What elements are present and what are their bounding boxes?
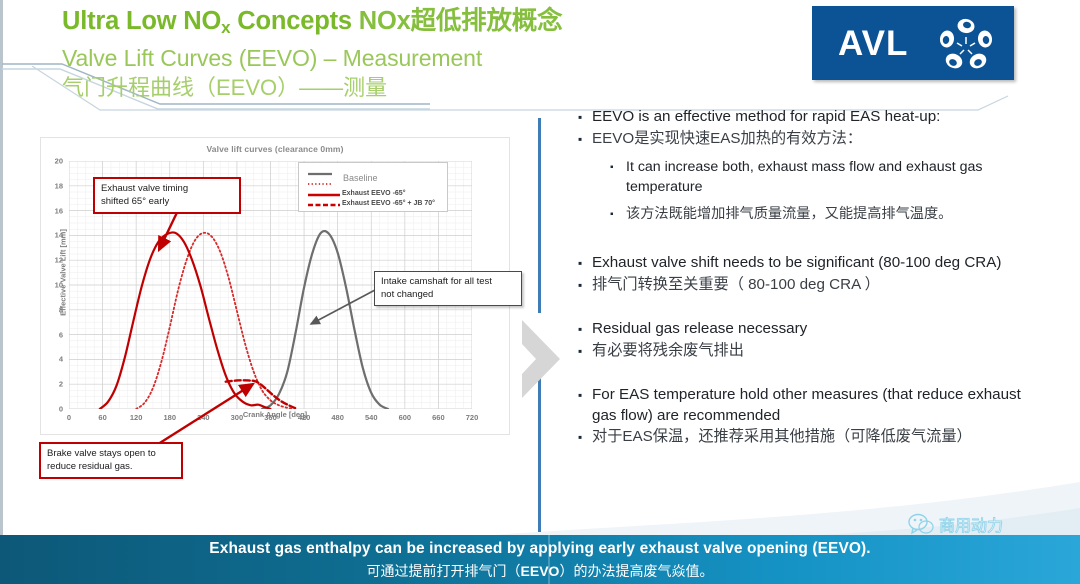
footer-text-cn: 可通过提前打开排气门（EEVO）的办法提高废气焱值。 [0, 561, 1080, 581]
chart-y-tick-label: 14 [41, 231, 63, 240]
list-item: ▪ Exhaust valve shift needs to be signif… [578, 252, 1048, 274]
slide-root: Ultra Low NOx Concepts NOx超低排放概念 Valve L… [0, 0, 1080, 584]
watermark-text: 商用动力 [939, 512, 1003, 536]
subtitle-cn: 气门升程曲线（EEVO）——测量 [62, 73, 762, 102]
list-item: ▪ EEVO是实现快速EAS加热的有效方法： [578, 128, 1048, 150]
list-item: ▪ 对于EAS保温，还推荐采用其他措施（可降低废气流量） [578, 426, 1048, 448]
chart-y-tick-label: 20 [41, 157, 63, 166]
legend-swatch-eevo65-jb70 [307, 202, 341, 208]
bullet-marker: ▪ [578, 384, 592, 406]
footer-text-en: Exhaust gas enthalpy can be increased by… [0, 540, 1080, 558]
legend-swatch-baseline-dotted [307, 181, 333, 187]
bullet-text: 该方法既能增加排气质量流量，又能提高排气温度。 [626, 204, 1048, 224]
valve-lift-chart: Valve lift curves (clearance 0mm) Effect… [40, 137, 510, 435]
subtitle-en: Valve Lift Curves (EEVO) – Measurement [62, 43, 762, 73]
legend-swatch-baseline-solid [307, 171, 333, 177]
left-edge-rail [0, 0, 3, 535]
column-divider-top [538, 118, 541, 313]
bullet-marker: ▪ [578, 106, 592, 128]
list-item: ▪ For EAS temperature hold other measure… [578, 384, 1048, 426]
bullet-marker: ▪ [578, 128, 592, 150]
bullet-text: Exhaust valve shift needs to be signific… [592, 252, 1048, 273]
chart-y-tick-label: 6 [41, 330, 63, 339]
callout-arrow-brake-valve [141, 378, 266, 450]
bullet-text: Residual gas release necessary [592, 318, 1048, 339]
spacer [578, 226, 1048, 252]
chart-x-tick-label: 720 [452, 413, 492, 422]
list-item: ▪ EEVO is an effective method for rapid … [578, 106, 1048, 128]
chart-y-tick-label: 12 [41, 256, 63, 265]
chart-legend: Baseline Exhaust EEVO -65° Exhaust EEVO … [298, 162, 448, 212]
bullet-text: For EAS temperature hold other measures … [592, 384, 1048, 426]
callout-line-1: Exhaust valve timing [101, 183, 233, 196]
bullet-marker: ▪ [578, 252, 592, 274]
callout-line-2: reduce residual gas. [47, 461, 175, 474]
list-item: ▪ 有必要将残余废气排出 [578, 340, 1048, 362]
chart-y-tick-label: 16 [41, 206, 63, 215]
bullet-list: ▪ EEVO is an effective method for rapid … [578, 106, 1048, 448]
bullet-text: It can increase both, exhaust mass flow … [626, 157, 1048, 197]
brake-valve-callout: Brake valve stays open to reduce residua… [39, 442, 183, 479]
legend-label-baseline: Baseline [343, 173, 378, 183]
chart-y-axis-label: Effective Valve Lift [mm] [59, 203, 68, 343]
list-item: ▪ 该方法既能增加排气质量流量，又能提高排气温度。 [610, 204, 1048, 226]
spacer [578, 296, 1048, 318]
footer-banner: Exhaust gas enthalpy can be increased by… [0, 535, 1080, 584]
chart-title: Valve lift curves (clearance 0mm) [41, 144, 509, 154]
bullet-marker: ▪ [578, 426, 592, 448]
callout-line-1: Brake valve stays open to [47, 448, 175, 461]
title-chinese: NOx超低排放概念 [359, 7, 563, 35]
title-tail: Concepts [230, 7, 358, 35]
bullet-marker: ▪ [610, 204, 626, 226]
avl-pinwheel-icon [938, 17, 994, 71]
title-subscript: x [221, 18, 230, 37]
chart-y-tick-label: 4 [41, 355, 63, 364]
list-item: ▪ 排气门转换至关重要（ 80-100 deg CRA ） [578, 274, 1048, 296]
callout-line-2: shifted 65° early [101, 196, 233, 209]
list-item: ▪ It can increase both, exhaust mass flo… [610, 157, 1048, 197]
legend-label-eevo65: Exhaust EEVO -65° [342, 190, 406, 197]
callout-arrow-intake-camshaft [305, 286, 380, 331]
bullet-text: 对于EAS保温，还推荐采用其他措施（可降低废气流量） [592, 426, 1048, 447]
bullet-marker: ▪ [610, 157, 626, 179]
bullet-text: 排气门转换至关重要（ 80-100 deg CRA ） [592, 274, 1048, 295]
bullet-marker: ▪ [578, 340, 592, 362]
chart-y-tick-label: 8 [41, 305, 63, 314]
intake-camshaft-callout: Intake camshaft for all test not changed [374, 271, 522, 306]
spacer [578, 150, 1048, 157]
exhaust-timing-callout: Exhaust valve timing shifted 65° early [93, 177, 241, 214]
avl-logo: AVL [812, 6, 1014, 80]
chevron-right-icon [516, 318, 564, 400]
avl-wordmark: AVL [838, 24, 908, 64]
footer-cn-post: ）的办法提高废气焱值。 [559, 563, 713, 579]
legend-swatch-eevo65 [307, 192, 341, 198]
legend-label-eevo65-jb70: Exhaust EEVO -65° + JB 70° [342, 200, 435, 207]
watermark: 商用动力 [908, 512, 1003, 536]
chart-y-tick-label: 2 [41, 380, 63, 389]
footer-cn-bold: EEVO [521, 563, 560, 579]
wechat-icon [908, 513, 934, 535]
callout-line-2: not changed [381, 289, 515, 302]
chart-y-tick-label: 18 [41, 181, 63, 190]
callout-line-1: Intake camshaft for all test [381, 276, 515, 289]
bullet-marker: ▪ [578, 318, 592, 340]
bullet-text: EEVO是实现快速EAS加热的有效方法： [592, 128, 1048, 149]
bullet-text: 有必要将残余废气排出 [592, 340, 1048, 361]
title-block: Ultra Low NOx Concepts NOx超低排放概念 Valve L… [62, 6, 762, 102]
title-main: Ultra Low NO [62, 7, 221, 35]
spacer [578, 362, 1048, 384]
footer-cn-pre: 可通过提前打开排气门（ [367, 563, 521, 579]
bullet-text: EEVO is an effective method for rapid EA… [592, 106, 1048, 127]
spacer [578, 197, 1048, 204]
chart-y-tick-label: 10 [41, 281, 63, 290]
list-item: ▪ Residual gas release necessary [578, 318, 1048, 340]
bullet-marker: ▪ [578, 274, 592, 296]
page-title: Ultra Low NOx Concepts NOx超低排放概念 [62, 6, 762, 43]
